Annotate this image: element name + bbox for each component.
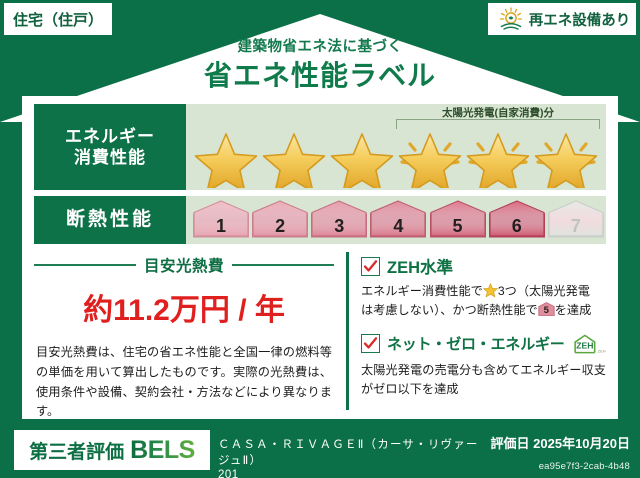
star-filled — [260, 126, 328, 188]
zeh-desc-starcount: 3つ（太陽光発電 — [498, 284, 590, 298]
insulation-level-number: 7 — [545, 200, 607, 240]
utility-cost-heading: 目安光熱費 — [34, 254, 334, 276]
star-solar — [464, 126, 532, 188]
energy-label-line2: 消費性能 — [74, 147, 146, 168]
svg-text:ZEH: ZEH — [597, 348, 605, 353]
zeh-desc-part3: を達成 — [555, 303, 592, 317]
energy-performance-label: 住宅（住戸） 再エネ設備あり 建築物省エネ法に基づく 省エネ性能ラベル — [0, 0, 640, 478]
insulation-level-number: 3 — [308, 200, 370, 240]
insulation-level-unachieved: 7 — [545, 200, 602, 240]
insulation-rating-area: 1 2 3 — [186, 196, 606, 244]
zeh-standard-header: ZEH水準 — [361, 254, 606, 278]
net-zero-header: ネット・ゼロ・エネルギー ZEH ZEH — [361, 331, 606, 357]
heading-rule-right — [232, 264, 334, 266]
star-filled — [192, 126, 260, 188]
certification-net-zero-energy: ネット・ゼロ・エネルギー ZEH ZEH 太陽光発電の売電分も含めてエネルギー収… — [361, 331, 606, 400]
insulation-level-achieved: 6 — [486, 200, 543, 240]
certification-column: ZEH水準 エネルギー消費性能で3つ（太陽光発電 は考慮しない）、かつ断熱性能で… — [346, 252, 606, 410]
star-filled — [328, 126, 396, 188]
title-subtitle: 建築物省エネ法に基づく — [0, 40, 640, 56]
utility-cost-value: 約11.2万円 / 年 — [34, 285, 334, 329]
insulation-level-achieved: 1 — [190, 200, 247, 240]
evaluation-date-value: 2025年10月20日 — [533, 436, 630, 451]
insulation-level-number: 6 — [486, 200, 548, 240]
dwelling-type-badge: 住宅（住戸） — [4, 3, 112, 35]
dwelling-type-label: 住宅（住戸） — [13, 9, 103, 30]
evaluation-date-label: 評価日 — [491, 436, 530, 451]
energy-rating-area: 太陽光発電(自家消費)分 — [186, 104, 606, 190]
checkbox-checked-icon-2 — [361, 334, 380, 353]
solar-portion-bracket — [396, 119, 600, 129]
bels-jp-text: 第三者評価 — [29, 437, 124, 464]
certification-zeh-standard: ZEH水準 エネルギー消費性能で3つ（太陽光発電 は考慮しない）、かつ断熱性能で… — [361, 254, 606, 321]
utility-cost-heading-label: 目安光熱費 — [144, 254, 224, 276]
insulation-level-achieved: 4 — [367, 200, 424, 240]
energy-performance-row: エネルギー 消費性能 太陽光発電(自家消費)分 — [34, 104, 606, 190]
insulation-performance-row: 断熱性能 1 — [34, 196, 606, 244]
net-zero-description: 太陽光発電の売電分も含めてエネルギー収支がゼロ以下を達成 — [361, 361, 606, 400]
footer-bar: 第三者評価 BELS ＣＡＳＡ・ＲＩＶＡＧＥⅡ（カーサ・リヴァージュⅡ） 評価日… — [0, 426, 640, 478]
insulation-level-group: 1 2 3 — [186, 196, 606, 244]
checkbox-checked-icon — [361, 257, 380, 276]
energy-label-line1: エネルギー — [65, 126, 155, 147]
utility-cost-note: 目安光熱費は、住宅の省エネ性能と全国一律の燃料等の単価を用いて算出したものです。… — [34, 343, 334, 422]
renewable-energy-label: 再エネ設備あり — [529, 9, 631, 30]
inline-star-icon — [483, 283, 498, 298]
label-body-card: エネルギー 消費性能 太陽光発電(自家消費)分 — [22, 96, 618, 419]
label-title-block: 建築物省エネ法に基づく 省エネ性能ラベル — [0, 40, 640, 93]
sun-leaf-icon — [498, 7, 524, 31]
insulation-level-number: 2 — [249, 200, 311, 240]
net-zero-title: ネット・ゼロ・エネルギー — [387, 333, 565, 354]
insulation-level-number: 1 — [190, 200, 252, 240]
zeh-standard-title: ZEH水準 — [387, 254, 453, 278]
insulation-level-achieved: 3 — [308, 200, 365, 240]
zeh-logo-icon: ZEH ZEH — [572, 331, 606, 357]
renewable-energy-badge: 再エネ設備あり — [488, 3, 636, 35]
bels-logo: 第三者評価 BELS — [14, 430, 210, 470]
insulation-level-number: 5 — [427, 200, 489, 240]
utility-cost-column: 目安光熱費 約11.2万円 / 年 目安光熱費は、住宅の省エネ性能と全国一律の燃… — [34, 252, 346, 410]
zeh-desc-part1: エネルギー消費性能で — [361, 284, 483, 298]
insulation-performance-label-box: 断熱性能 — [34, 196, 186, 244]
insulation-level-achieved: 2 — [249, 200, 306, 240]
insulation-label: 断熱性能 — [66, 208, 154, 232]
evaluation-date: 評価日 2025年10月20日 — [491, 433, 630, 452]
star-solar — [396, 126, 464, 188]
page-title: 省エネ性能ラベル — [0, 58, 640, 93]
insulation-level-achieved: 5 — [427, 200, 484, 240]
star-solar — [532, 126, 600, 188]
insulation-level-number: 4 — [367, 200, 429, 240]
details-columns: 目安光熱費 約11.2万円 / 年 目安光熱費は、住宅の省エネ性能と全国一律の燃… — [34, 252, 606, 410]
svg-text:ZEH: ZEH — [576, 340, 593, 350]
solar-portion-caption: 太陽光発電(自家消費)分 — [382, 105, 614, 120]
inline-house-level-value: 5 — [538, 302, 555, 316]
bels-en-text: BELS — [130, 436, 195, 465]
inline-house-level-icon: 5 — [538, 302, 555, 316]
building-name: ＣＡＳＡ・ＲＩＶＡＧＥⅡ（カーサ・リヴァージュⅡ） — [218, 436, 485, 468]
zeh-standard-description: エネルギー消費性能で3つ（太陽光発電 は考慮しない）、かつ断熱性能で5を達成 — [361, 282, 606, 321]
heading-rule-left — [34, 264, 136, 266]
evaluation-id: ea95e7f3-2cab-4b48 — [539, 461, 630, 472]
energy-performance-label-box: エネルギー 消費性能 — [34, 104, 186, 190]
zeh-desc-part2: は考慮しない）、かつ断熱性能で — [361, 303, 538, 317]
